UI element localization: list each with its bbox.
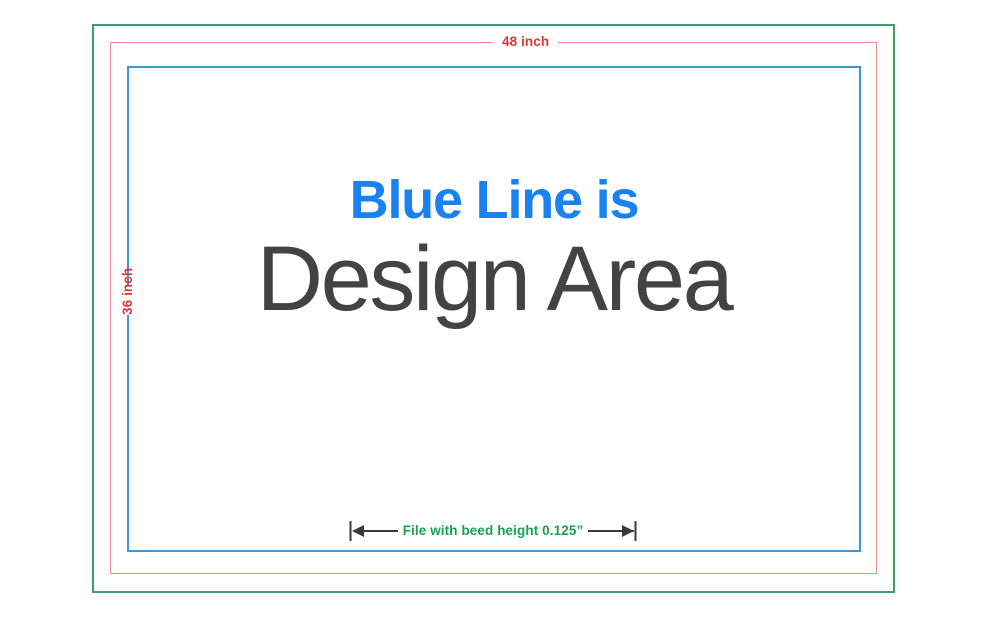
artboard: 48 inch 36 inch Blue Line is Design Area… xyxy=(0,0,986,619)
headline-primary-text: Blue Line is xyxy=(127,168,861,232)
bleed-dimension-annotation: File with beed height 0.125” xyxy=(349,518,637,544)
width-dimension-label: 48 inch xyxy=(493,33,558,51)
headline-secondary-text: Design Area xyxy=(127,236,861,322)
bleed-caption-wrapper: File with beed height 0.125” xyxy=(349,518,637,544)
bleed-caption-text: File with beed height 0.125” xyxy=(398,523,589,538)
headline-block: Blue Line is Design Area xyxy=(127,168,861,322)
